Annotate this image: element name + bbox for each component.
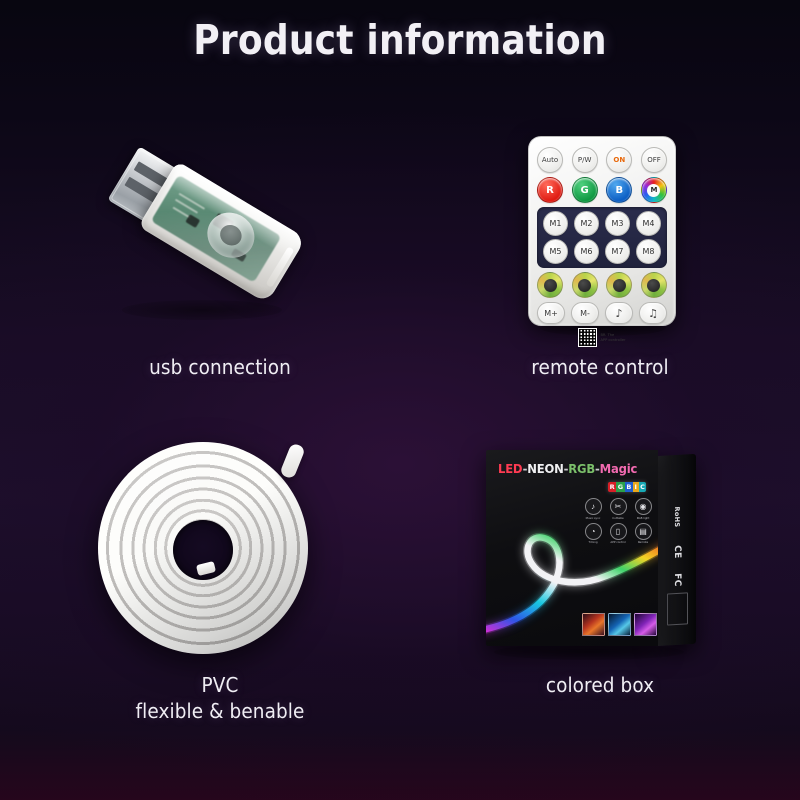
box-title-magic: Magic bbox=[600, 461, 638, 476]
caption-colored-box: colored box bbox=[438, 672, 762, 698]
page-title: Product information bbox=[48, 16, 752, 64]
timer-icon: ◔ bbox=[585, 523, 602, 540]
remote-button-green[interactable]: G bbox=[572, 177, 598, 203]
music-note-icon[interactable]: ♪ bbox=[605, 302, 633, 324]
box-feature-grid: ♪ Music sync ✂ Cuttable ◉ RGB light ◔ Ti… bbox=[582, 498, 654, 544]
remote-button-pw[interactable]: P/W bbox=[572, 147, 598, 173]
remote-button-m3[interactable]: M3 bbox=[605, 211, 630, 236]
feature-remote: ▤ Remote bbox=[632, 523, 654, 545]
strip-end-tab bbox=[279, 442, 306, 479]
colored-box-product: RoHS CE FC LED-NEON-RGB-Magic R G B I C bbox=[484, 446, 706, 658]
usb-dongle bbox=[104, 140, 306, 303]
remote-button-red[interactable]: R bbox=[537, 177, 563, 203]
color-wheel-icon[interactable] bbox=[572, 272, 598, 298]
remote-button-multicolor[interactable]: M bbox=[641, 177, 667, 203]
certification-rohs: RoHS bbox=[673, 506, 681, 527]
phone-icon: ▯ bbox=[610, 523, 627, 540]
box-side-panel: RoHS CE FC bbox=[658, 454, 696, 646]
caption-remote-control: remote control bbox=[438, 354, 762, 380]
box-title-led: LED bbox=[498, 461, 523, 476]
thumbnail-photo-blue bbox=[608, 613, 631, 636]
remote-button-multicolor-label: M bbox=[647, 184, 660, 197]
remote-button-m4[interactable]: M4 bbox=[636, 211, 661, 236]
badge-letter-c: C bbox=[639, 482, 647, 492]
remote-button-m6[interactable]: M6 bbox=[574, 239, 599, 264]
remote-button-m7[interactable]: M7 bbox=[605, 239, 630, 264]
rgbic-badge: R G B I C bbox=[608, 482, 646, 492]
box-drop-shadow bbox=[494, 644, 684, 660]
remote-button-on[interactable]: ON bbox=[606, 147, 632, 173]
remote-button-m8[interactable]: M8 bbox=[636, 239, 661, 264]
caption-pvc-line1: PVC bbox=[58, 672, 382, 698]
feature-label: APP control bbox=[610, 541, 625, 544]
box-title-rgb: RGB bbox=[568, 461, 595, 476]
product-information-page: Product information usb connection bbox=[0, 0, 800, 800]
remote-icon: ▤ bbox=[635, 523, 652, 540]
remote-memory-row-2: M5 M6 M7 M8 bbox=[543, 239, 661, 264]
usb-drop-shadow bbox=[122, 300, 282, 320]
badge-letter-r: R bbox=[608, 482, 616, 492]
usb-plastic-shell bbox=[138, 161, 306, 303]
feature-app-control: ▯ APP control bbox=[607, 523, 629, 545]
thumbnail-photo-red bbox=[582, 613, 605, 636]
remote-control-product: Auto P/W ON OFF R G B M M1 M2 M3 M4 bbox=[520, 136, 688, 336]
remote-button-off[interactable]: OFF bbox=[641, 147, 667, 173]
box-product-title: LED-NEON-RGB-Magic bbox=[498, 461, 637, 476]
remote-button-m5[interactable]: M5 bbox=[543, 239, 568, 264]
remote-button-mode-up[interactable]: M+ bbox=[537, 302, 565, 324]
box-application-thumbnails bbox=[582, 613, 657, 636]
caption-pvc: PVC flexible & benable bbox=[58, 672, 382, 724]
box-side-window bbox=[667, 592, 688, 625]
remote-button-m2[interactable]: M2 bbox=[574, 211, 599, 236]
feature-label: Music sync bbox=[586, 517, 601, 520]
thumbnail-photo-purple bbox=[634, 613, 657, 636]
usb-connection-product bbox=[88, 132, 318, 347]
qr-code-icon bbox=[578, 328, 597, 347]
scissors-icon: ✂ bbox=[610, 498, 627, 515]
remote-qr-label-line2: APP controller bbox=[600, 338, 625, 343]
color-wheel-icon[interactable] bbox=[641, 272, 667, 298]
color-wheel-icon[interactable] bbox=[537, 272, 563, 298]
remote-function-row: M+ M- ♪ ♫ bbox=[537, 302, 667, 324]
music-notes-icon[interactable]: ♫ bbox=[639, 302, 667, 324]
box-title-neon: NEON bbox=[527, 461, 563, 476]
remote-color-row: R G B M bbox=[537, 177, 667, 203]
bulb-icon: ◉ bbox=[635, 498, 652, 515]
remote-qr-label: BR. The APP controller bbox=[600, 333, 625, 343]
remote-power-row: Auto P/W ON OFF bbox=[537, 147, 667, 173]
certification-ce: CE bbox=[672, 545, 682, 559]
remote-control-body: Auto P/W ON OFF R G B M M1 M2 M3 M4 bbox=[528, 136, 676, 326]
remote-button-mode-down[interactable]: M- bbox=[571, 302, 599, 324]
feature-music-sync: ♪ Music sync bbox=[582, 498, 604, 520]
feature-label: RGB light bbox=[637, 517, 650, 520]
music-note-icon: ♪ bbox=[585, 498, 602, 515]
remote-button-blue[interactable]: B bbox=[606, 177, 632, 203]
feature-label: Cuttable bbox=[612, 517, 623, 520]
remote-memory-panel: M1 M2 M3 M4 M5 M6 M7 M8 bbox=[537, 207, 667, 268]
feature-label: Timing bbox=[588, 541, 597, 544]
certification-fc: FC bbox=[672, 573, 682, 587]
feature-cuttable: ✂ Cuttable bbox=[607, 498, 629, 520]
badge-letter-b: B bbox=[625, 482, 633, 492]
caption-pvc-line2: flexible & benable bbox=[58, 698, 382, 724]
caption-usb-connection: usb connection bbox=[58, 354, 382, 380]
feature-timing: ◔ Timing bbox=[582, 523, 604, 545]
remote-memory-row-1: M1 M2 M3 M4 bbox=[543, 211, 661, 236]
pvc-neon-strip-product bbox=[92, 438, 314, 662]
pcb-chip bbox=[185, 214, 200, 228]
feature-label: Remote bbox=[638, 541, 648, 544]
feature-rgb-light: ◉ RGB light bbox=[632, 498, 654, 520]
color-wheel-icon[interactable] bbox=[606, 272, 632, 298]
remote-button-auto[interactable]: Auto bbox=[537, 147, 563, 173]
remote-button-m1[interactable]: M1 bbox=[543, 211, 568, 236]
remote-color-wheel-row bbox=[537, 272, 667, 298]
badge-letter-g: G bbox=[616, 482, 625, 492]
remote-qr-area: BR. The APP controller bbox=[537, 328, 667, 347]
box-front-panel: LED-NEON-RGB-Magic R G B I C bbox=[486, 450, 658, 646]
